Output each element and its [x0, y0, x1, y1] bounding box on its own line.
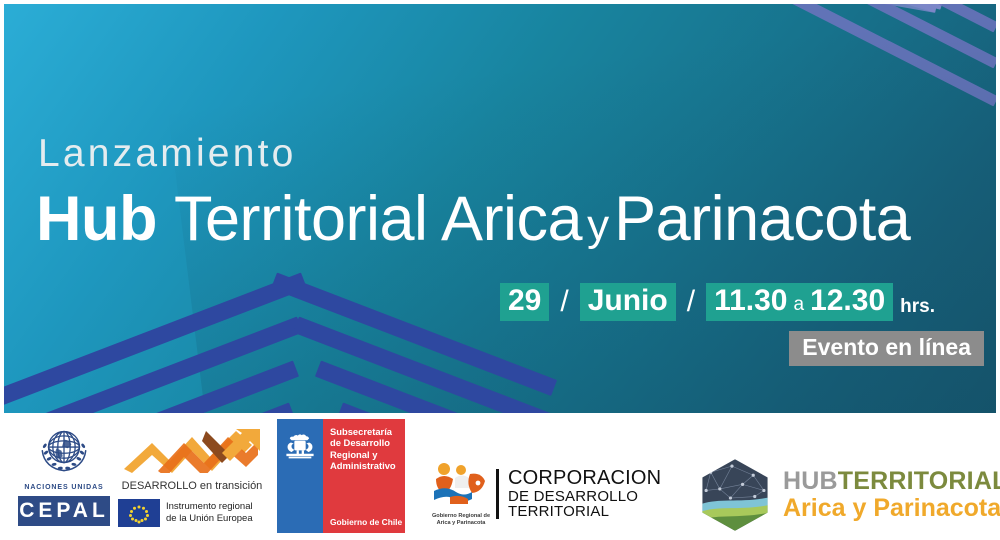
- un-globe-laurel-icon: [33, 421, 95, 483]
- subdere-gobierno-text: Gobierno de Chile: [330, 517, 402, 527]
- status-badge: Evento en línea: [789, 331, 984, 366]
- chile-coat-of-arms-icon: [283, 433, 317, 461]
- chevron-decoration: [4, 360, 526, 378]
- un-caption: NACIONES UNIDAS: [14, 484, 114, 491]
- logo-cepal: NACIONES UNIDAS CEPAL: [14, 421, 114, 526]
- hub-wordmark-line-1: HUBTERRITORIAL: [783, 469, 1000, 494]
- logo-hub-territorial: HUBTERRITORIAL Arica y Parinacota: [697, 457, 987, 533]
- corp-line-2: DE DESARROLLO: [508, 489, 661, 504]
- subdere-title-line-2: de Desarrollo: [330, 437, 399, 448]
- event-banner-poster: Lanzamiento Hub Territorial AricayParina…: [0, 0, 1000, 540]
- european-union-flag-icon: [118, 499, 160, 527]
- subdere-title-line-1: Subsecretaría: [330, 426, 399, 437]
- hub-word-hub: HUB: [783, 467, 838, 495]
- kicker-text: Lanzamiento: [38, 134, 297, 173]
- stripe-ray-decoration: [904, 4, 941, 9]
- hexagon-network-landscape-icon: [697, 457, 773, 533]
- event-datetime-row: 29 / Junio / 11.30a12.30 hrs.: [500, 284, 935, 320]
- gore-arica-parinacota-icon: [430, 461, 492, 507]
- chevron-decoration: [4, 272, 534, 290]
- eu-text-line-2: de la Unión Europea: [166, 513, 253, 525]
- logo-desarrollo-en-transicion: DESARROLLO en transición: [118, 425, 266, 527]
- dt-caption: DESARROLLO en transición: [118, 480, 266, 492]
- corp-mark-caption: Gobierno Regional de Arica y Parinacota: [430, 513, 492, 526]
- corp-mark-caption-line-1: Gobierno Regional de: [430, 513, 492, 520]
- event-time-end: 12.30: [810, 286, 885, 316]
- dt-caption-light: en transición: [197, 480, 262, 492]
- subdere-title: Subsecretaría de Desarrollo Regional y A…: [330, 426, 399, 472]
- date-separator-2: /: [676, 287, 706, 317]
- stripe-ray-decoration: [233, 4, 939, 12]
- subdere-title-line-4: Administrativo: [330, 460, 399, 471]
- headline-light-second: Parinacota: [614, 184, 910, 254]
- headline-strong: Hub: [36, 184, 157, 254]
- stripe-ray-decoration: [322, 4, 939, 11]
- event-time-unit: hrs.: [893, 296, 935, 318]
- corp-mark-caption-line-2: Arica y Parinacota: [430, 520, 492, 527]
- zigzag-arrows-icon: [118, 425, 266, 473]
- subdere-blue-panel: [277, 419, 323, 533]
- event-day-chip: 29: [500, 283, 549, 321]
- page-title: Hub Territorial AricayParinacota: [36, 188, 910, 251]
- stripe-ray-decoration: [420, 4, 940, 11]
- subdere-red-panel: Subsecretaría de Desarrollo Regional y A…: [323, 419, 405, 533]
- headline-conjunction: y: [582, 201, 614, 250]
- eu-instrument-row: Instrumento regional de la Unión Europea: [118, 499, 266, 527]
- date-separator-1: /: [549, 287, 579, 317]
- headline-light-first: Territorial Arica: [174, 184, 582, 254]
- hero-banner: Lanzamiento Hub Territorial AricayParina…: [4, 4, 996, 413]
- eu-text-line-1: Instrumento regional: [166, 501, 253, 513]
- event-time-join: a: [787, 295, 810, 314]
- hub-wordmark: HUBTERRITORIAL Arica y Parinacota: [783, 469, 1000, 521]
- chevron-decoration: [4, 316, 530, 334]
- event-time-chip: 11.30a12.30: [706, 283, 893, 321]
- hub-wordmark-line-2: Arica y Parinacota: [783, 496, 1000, 521]
- corp-wordmark: CORPORACION DE DESARROLLO TERRITORIAL: [508, 468, 661, 519]
- subdere-title-line-3: Regional y: [330, 449, 399, 460]
- chevron-decoration: [4, 402, 522, 413]
- corp-mark-block: Gobierno Regional de Arica y Parinacota: [430, 461, 492, 526]
- purple-diagonal-decoration: [325, 4, 996, 68]
- logo-corporacion-desarrollo-territorial: Gobierno Regional de Arica y Parinacota …: [430, 461, 675, 526]
- corp-divider: [496, 469, 499, 519]
- corp-line-3: TERRITORIAL: [508, 504, 661, 519]
- dt-caption-strong: DESARROLLO: [122, 480, 197, 492]
- event-month-chip: Junio: [580, 283, 676, 321]
- event-time-start: 11.30: [714, 286, 787, 316]
- corp-line-1: CORPORACION: [508, 468, 661, 489]
- logo-subdere: Subsecretaría de Desarrollo Regional y A…: [277, 419, 405, 533]
- eu-instrument-text: Instrumento regional de la Unión Europea: [166, 501, 253, 525]
- purple-diagonal-decoration: [281, 4, 996, 106]
- cepal-wordmark: CEPAL: [18, 496, 110, 526]
- sponsor-logo-bar: NACIONES UNIDAS CEPAL DESARROLLO en tran…: [0, 413, 1000, 540]
- hub-word-territorial: TERRITORIAL: [838, 467, 1000, 495]
